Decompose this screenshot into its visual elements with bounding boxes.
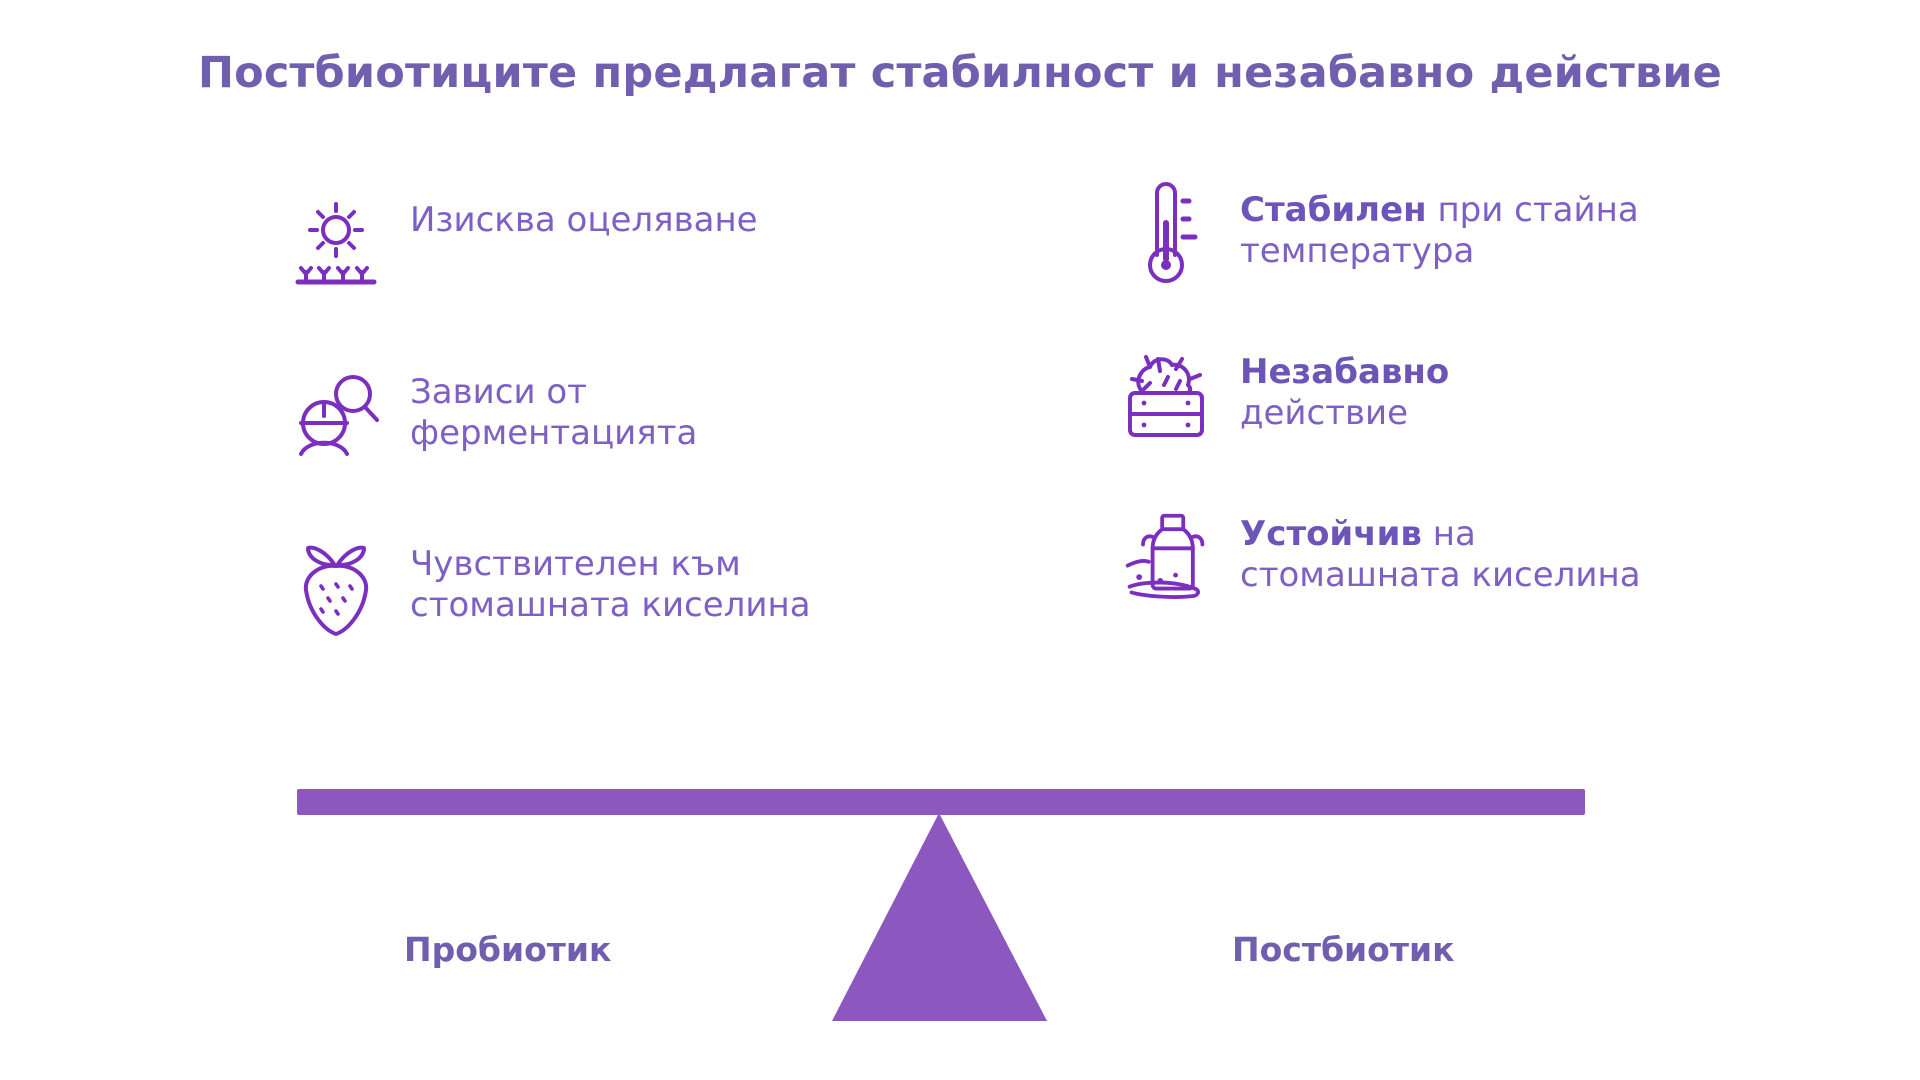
feature-label: Зависи от ферментацията: [410, 362, 830, 454]
feature-item-stable-at-room-temperature: Стабилен при стайна температура: [1120, 180, 1680, 284]
feature-label: Незабавнодействие: [1240, 342, 1449, 434]
balance-fulcrum-triangle: [832, 813, 1047, 1021]
left-feature-column: Изисква оцеляване Зависи от ферментацият…: [290, 180, 850, 706]
feature-body: Изисква оцеляване: [410, 200, 758, 240]
feature-body: действие: [1240, 393, 1408, 433]
feature-item-immediate-action: Незабавнодействие: [1120, 342, 1680, 446]
burst-crate-icon: [1120, 342, 1212, 446]
strawberry-icon: [290, 534, 382, 638]
balance-label-probiotic: Пробиотик: [404, 930, 611, 969]
feature-body: Чувствителен към стомашната киселина: [410, 544, 811, 625]
feature-label: Чувствителен към стомашната киселина: [410, 534, 830, 626]
thermometer-icon: [1120, 180, 1212, 284]
feature-item-depends-on-fermentation: Зависи от ферментацията: [290, 362, 850, 466]
sun-over-sprouts-icon: [290, 190, 382, 294]
feature-label: Устойчив на стомашната киселина: [1240, 504, 1660, 596]
right-feature-column: Стабилен при стайна температура: [1120, 180, 1680, 666]
milk-can-splash-icon: [1120, 504, 1212, 608]
page-title: Постбиотиците предлагат стабилност и нез…: [0, 48, 1920, 98]
feature-lead: Устойчив: [1240, 514, 1422, 554]
feature-lead: Стабилен: [1240, 190, 1427, 230]
feature-item-requires-survival: Изисква оцеляване: [290, 190, 850, 294]
feature-item-sensitive-to-stomach-acid: Чувствителен към стомашната киселина: [290, 534, 850, 638]
feature-label: Стабилен при стайна температура: [1240, 180, 1660, 272]
feature-label: Изисква оцеляване: [410, 190, 758, 241]
feature-item-resistant-to-stomach-acid: Устойчив на стомашната киселина: [1120, 504, 1680, 608]
balance-label-postbiotic: Постбиотик: [1232, 930, 1454, 969]
feature-lead: Незабавно: [1240, 352, 1449, 392]
balance-beam: [297, 789, 1585, 815]
microbe-magnifier-icon: [290, 362, 382, 466]
feature-body: Зависи от ферментацията: [410, 372, 697, 453]
